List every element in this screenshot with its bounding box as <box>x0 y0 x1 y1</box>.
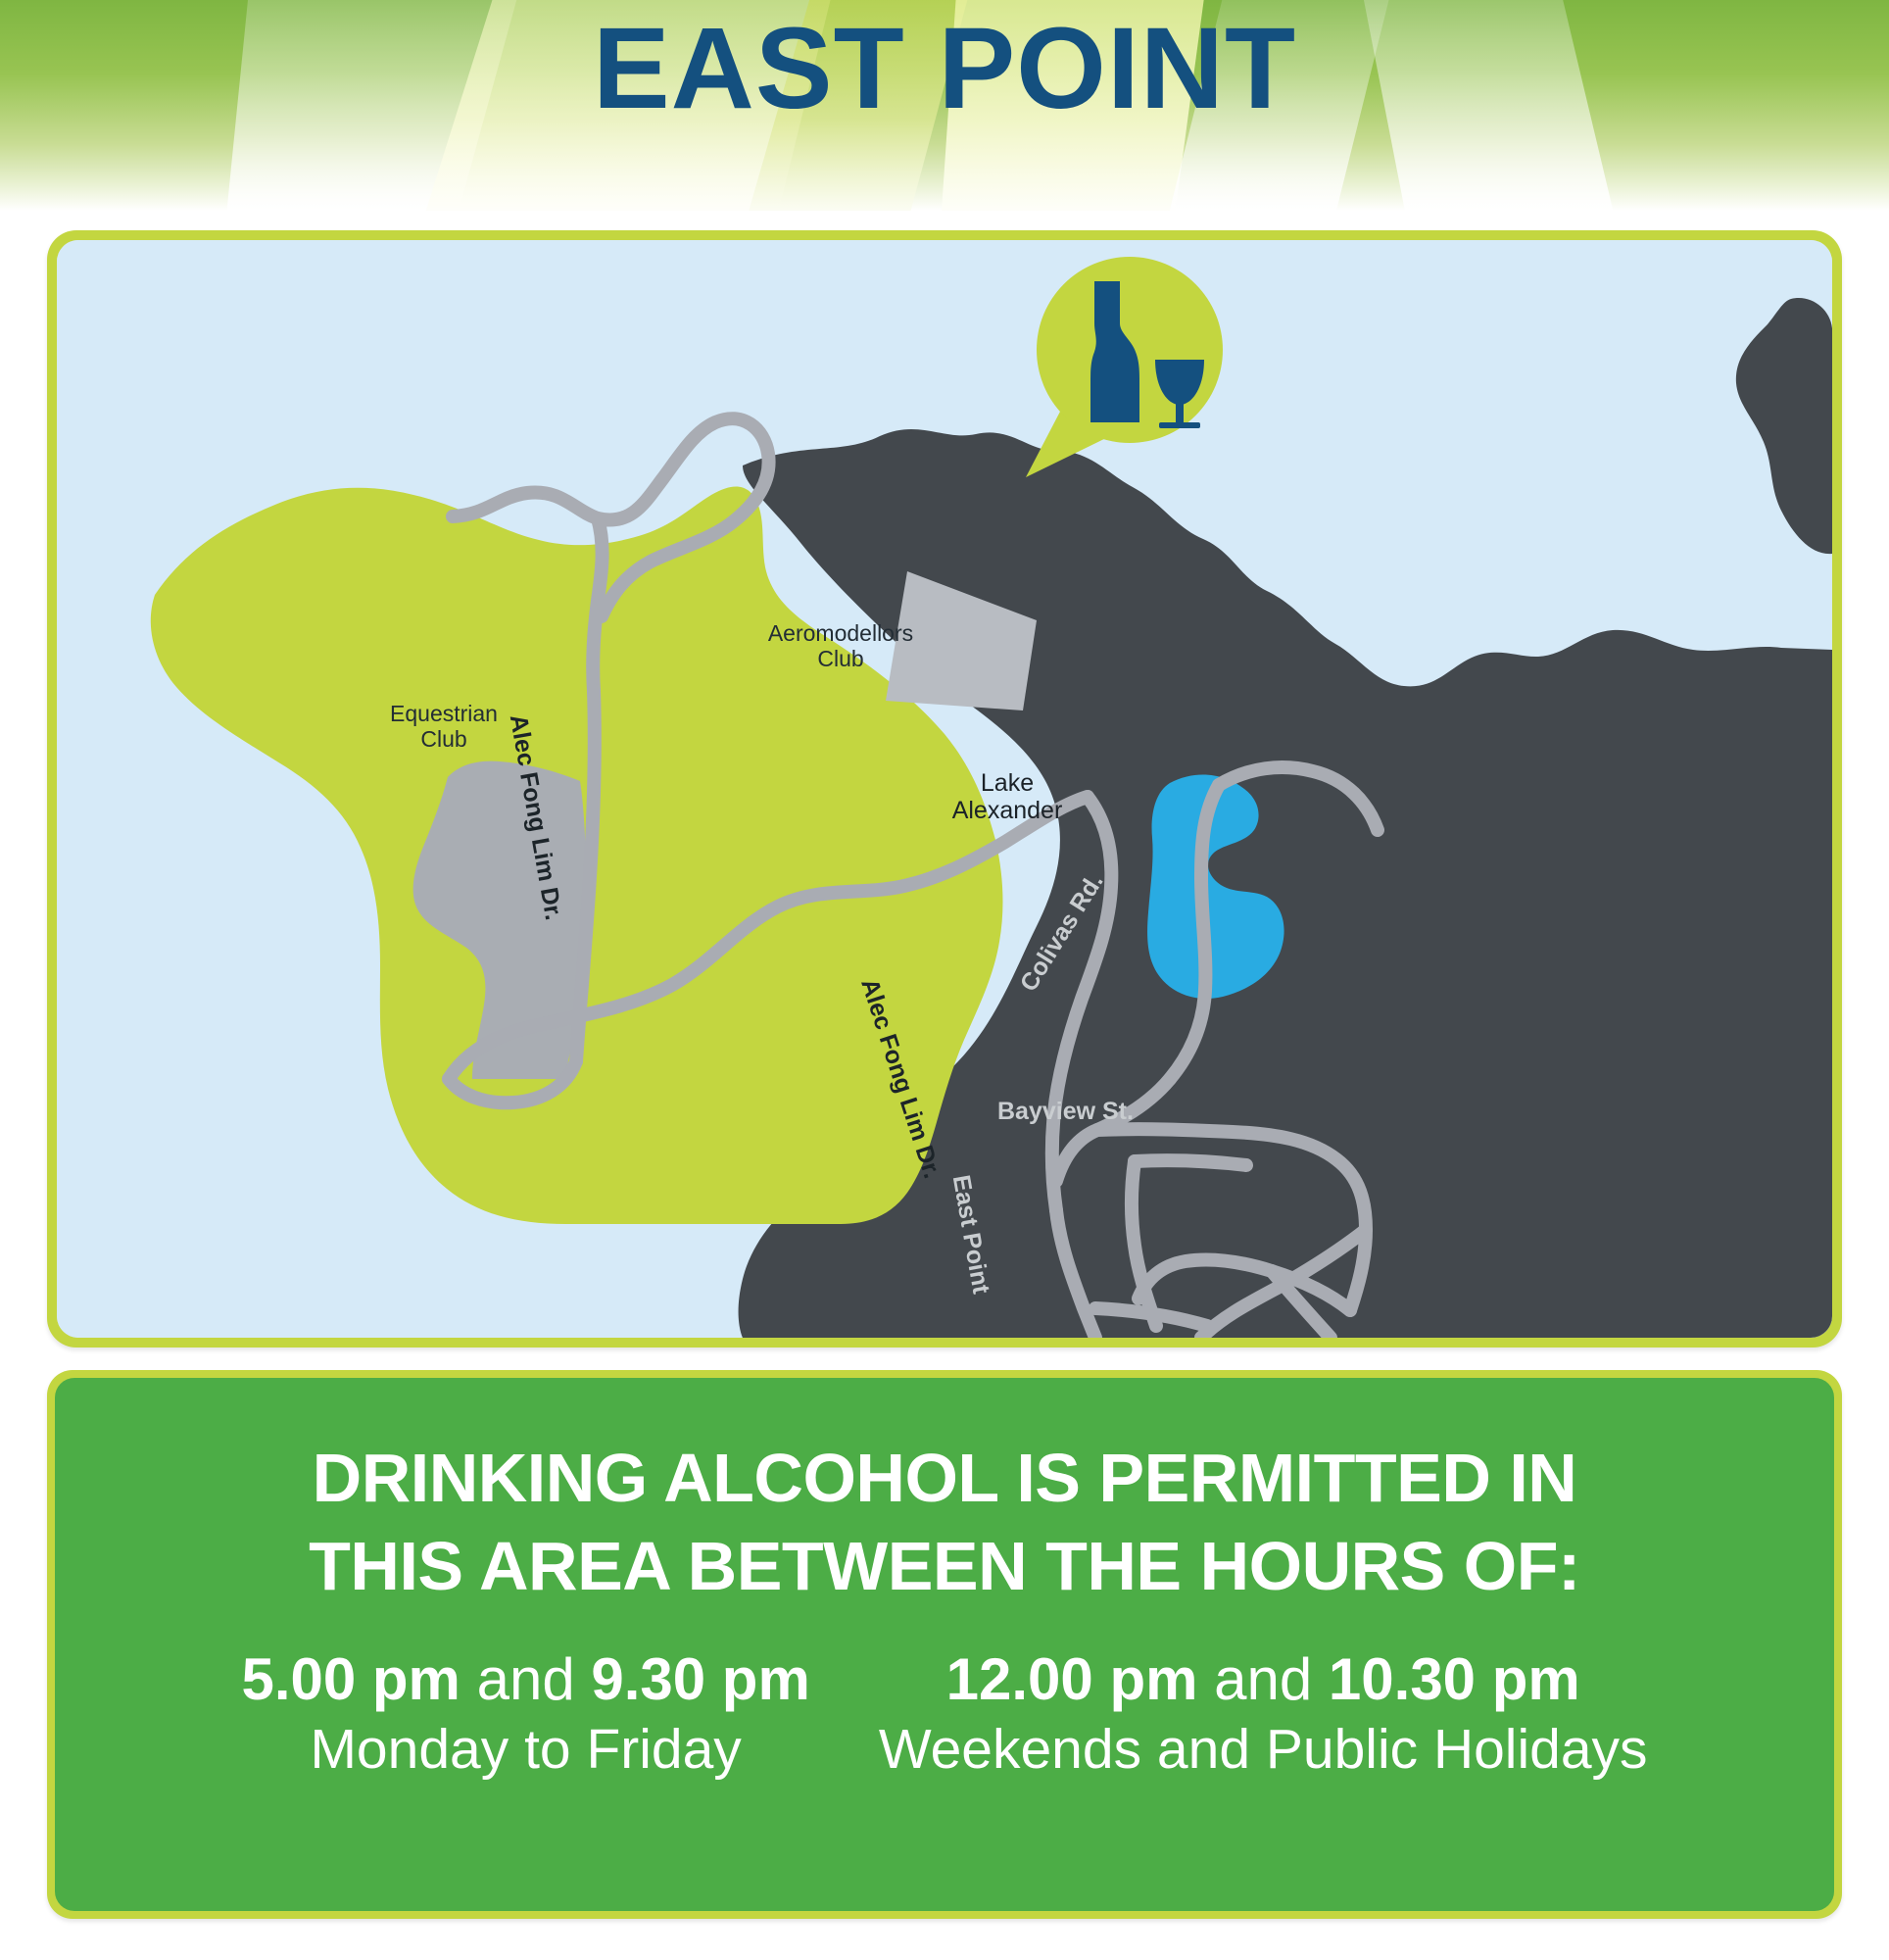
page-title: EAST POINT <box>0 6 1889 133</box>
weekday-start-time: 5.00 pm <box>241 1646 460 1712</box>
weekend-conjunction: and <box>1197 1646 1328 1712</box>
notice-heading-line-1: DRINKING ALCOHOL IS PERMITTED IN <box>55 1435 1834 1523</box>
weekday-days: Monday to Friday <box>241 1715 809 1785</box>
notice-heading-line-2: THIS AREA BETWEEN THE HOURS OF: <box>55 1523 1834 1611</box>
weekend-start-time: 12.00 pm <box>946 1646 1198 1712</box>
road-label-bayview-st: Bayview St. <box>997 1098 1134 1126</box>
lake-alexander-label: Lake Alexander <box>924 769 1090 824</box>
notice-banner: DRINKING ALCOHOL IS PERMITTED IN THIS AR… <box>47 1370 1842 1919</box>
map-panel: Equestrian Club Aeromodellors Club Lake … <box>47 230 1842 1347</box>
weekday-end-time: 9.30 pm <box>591 1646 809 1712</box>
page-header: EAST POINT <box>0 0 1889 211</box>
hours-column-weekend: 12.00 pm and 10.30 pm Weekends and Publi… <box>879 1645 1648 1785</box>
weekend-end-time: 10.30 pm <box>1329 1646 1580 1712</box>
weekend-days: Weekends and Public Holidays <box>879 1715 1648 1785</box>
weekday-conjunction: and <box>460 1646 591 1712</box>
hours-row: 5.00 pm and 9.30 pm Monday to Friday 12.… <box>55 1645 1834 1785</box>
hours-column-weekday: 5.00 pm and 9.30 pm Monday to Friday <box>241 1645 809 1785</box>
hours-line-weekend: 12.00 pm and 10.30 pm <box>879 1645 1648 1715</box>
hours-line-weekday: 5.00 pm and 9.30 pm <box>241 1645 809 1715</box>
notice-inner: DRINKING ALCOHOL IS PERMITTED IN THIS AR… <box>55 1378 1834 1911</box>
map-canvas[interactable]: Equestrian Club Aeromodellors Club Lake … <box>57 240 1832 1338</box>
